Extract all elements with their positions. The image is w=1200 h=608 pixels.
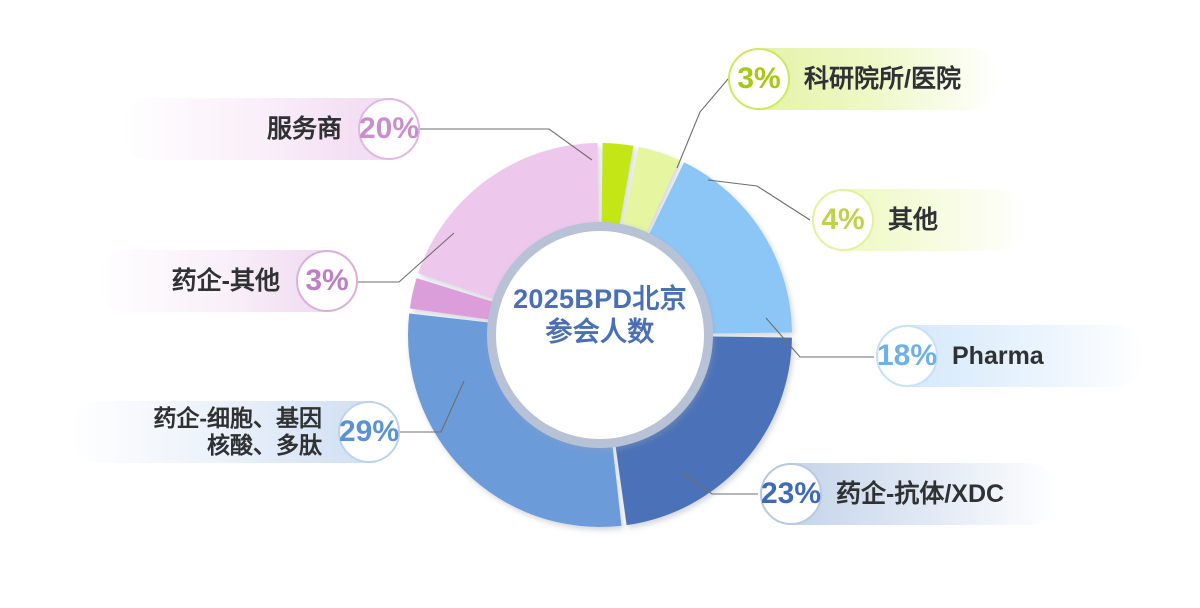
donut-hole — [496, 231, 704, 439]
callout-yaoqi-qita[interactable]: 药企-其他 3% — [96, 250, 358, 312]
callout-xdc[interactable]: 23% 药企-抗体/XDC — [760, 463, 1058, 525]
callout-keyan-label: 科研院所/医院 — [804, 65, 961, 94]
callout-cell-gene-label: 药企-细胞、基因 核酸、多肽 — [153, 405, 322, 458]
callout-fuwushang[interactable]: 服务商 20% — [120, 98, 420, 160]
callout-cell-gene-percent: 29% — [338, 401, 400, 463]
callout-qita-percent: 4% — [812, 189, 874, 251]
callout-pharma-label: Pharma — [952, 342, 1044, 371]
callout-qita[interactable]: 4% 其他 — [812, 189, 1028, 251]
chart-canvas: 2025BPD北京 参会人数 服务商 20% 药企-其他 3% 药企-细胞、基因… — [0, 0, 1200, 608]
callout-keyan[interactable]: 3% 科研院所/医院 — [728, 48, 1000, 110]
callout-pharma-percent: 18% — [876, 325, 938, 387]
callout-yaoqi-qita-percent: 3% — [296, 250, 358, 312]
callout-cell-gene-label-line2: 核酸、多肽 — [207, 432, 322, 458]
callout-pharma[interactable]: 18% Pharma — [876, 325, 1146, 387]
callout-yaoqi-qita-label: 药企-其他 — [172, 267, 280, 296]
callout-fuwushang-percent: 20% — [358, 98, 420, 160]
callout-xdc-percent: 23% — [760, 463, 822, 525]
callout-xdc-label: 药企-抗体/XDC — [836, 480, 1004, 509]
callout-cell-gene[interactable]: 药企-细胞、基因 核酸、多肽 29% — [70, 401, 400, 463]
callout-cell-gene-label-line1: 药企-细胞、基因 — [153, 405, 322, 431]
callout-fuwushang-label: 服务商 — [267, 115, 342, 144]
callout-keyan-percent: 3% — [728, 48, 790, 110]
callout-qita-label: 其他 — [888, 206, 938, 235]
